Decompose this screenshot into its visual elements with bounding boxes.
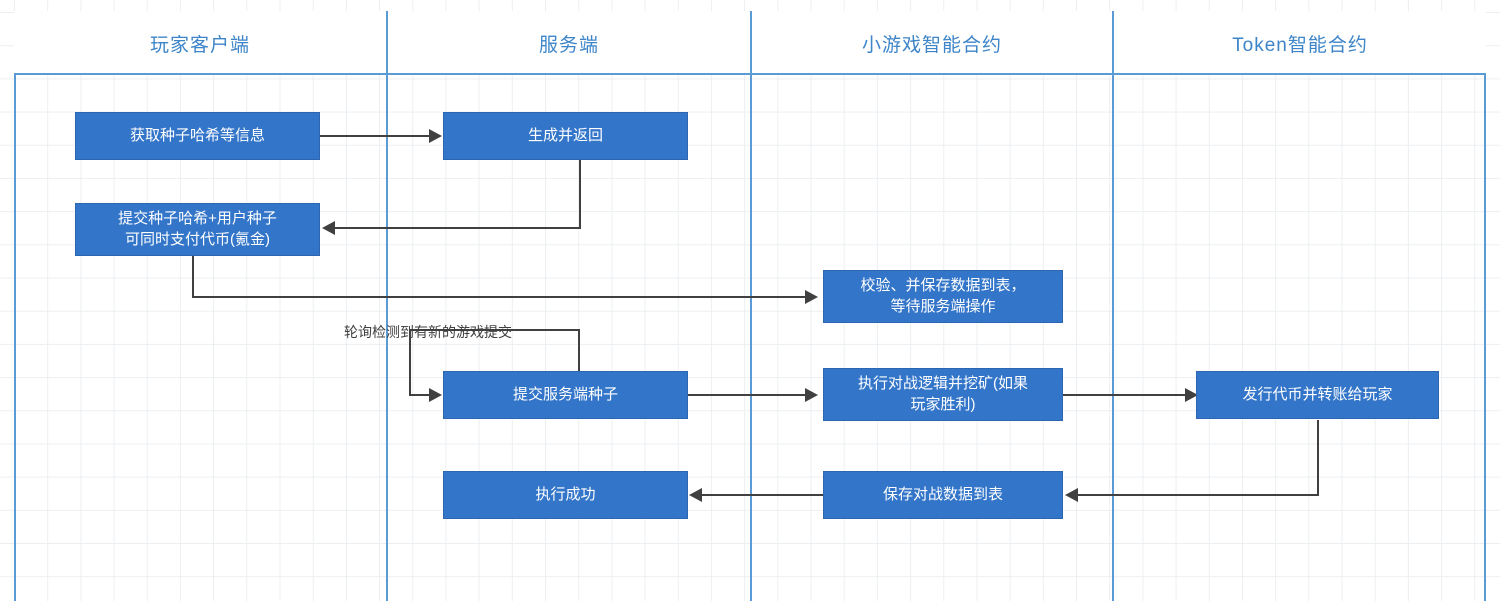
edge-n3-n4-hline	[192, 296, 809, 298]
edge-n7-n9-vline	[1317, 420, 1319, 496]
edge-n9-n8-arrow	[689, 488, 702, 502]
node-generate-and-return[interactable]: 生成并返回	[443, 112, 688, 160]
node-mint-and-transfer-token[interactable]: 发行代币并转账给玩家	[1196, 371, 1439, 419]
node-save-battle-data-line-1: 保存对战数据到表	[883, 485, 1003, 505]
node-execute-success-line-1: 执行成功	[535, 485, 595, 505]
edge-n2-n3-vline	[579, 160, 581, 229]
node-execute-battle-logic-line-2: 玩家胜利)	[911, 395, 976, 415]
node-generate-and-return-line-1: 生成并返回	[528, 126, 603, 146]
lane-divider-1	[386, 11, 388, 601]
lane-title-token-contract: Token智能合约	[1114, 11, 1486, 75]
lane-title-server: 服务端	[388, 11, 750, 75]
edge-n1-n2-arrow	[429, 129, 442, 143]
lane-divider-3	[1112, 11, 1114, 601]
edge-n3-n4-arrow	[805, 290, 818, 304]
edge-n7-n9-hline	[1076, 494, 1319, 496]
node-submit-seed-hash-line-1: 提交种子哈希+用户种子	[118, 209, 277, 229]
edge-polling-label: 轮询检测到有新的游戏提交	[344, 322, 512, 342]
lane-divider-2	[750, 11, 752, 601]
node-execute-battle-logic-line-1: 执行对战逻辑并挖矿(如果	[858, 374, 1028, 394]
edge-n6-n7-line	[1063, 394, 1189, 396]
edge-n1-n2-line	[319, 135, 433, 137]
node-mint-and-transfer-token-line-1: 发行代币并转账给玩家	[1242, 385, 1392, 405]
edge-n3-n4-vline	[192, 255, 194, 298]
node-submit-server-seed-line-1: 提交服务端种子	[513, 385, 618, 405]
edge-n5-n6-line	[687, 394, 809, 396]
lane-title-client: 玩家客户端	[14, 11, 386, 75]
edge-n5-n6-arrow	[805, 388, 818, 402]
node-submit-seed-hash-line-2: 可同时支付代币(氪金)	[125, 230, 270, 250]
node-execute-success[interactable]: 执行成功	[443, 471, 688, 519]
edge-n7-n9-arrow	[1065, 488, 1078, 502]
edge-n9-n8-line	[700, 494, 823, 496]
edge-polling-vline-right	[578, 330, 580, 371]
node-submit-seed-hash[interactable]: 提交种子哈希+用户种子 可同时支付代币(氪金)	[75, 203, 320, 256]
edge-polling-arrow	[429, 388, 442, 402]
node-validate-and-save[interactable]: 校验、并保存数据到表， 等待服务端操作	[823, 270, 1063, 323]
node-get-seed-hash[interactable]: 获取种子哈希等信息	[75, 112, 320, 160]
flowchart-canvas: 玩家客户端 服务端 小游戏智能合约 Token智能合约 轮询检测到有新的游戏提交…	[0, 0, 1500, 601]
node-validate-and-save-line-1: 校验、并保存数据到表，	[860, 276, 1025, 296]
node-save-battle-data[interactable]: 保存对战数据到表	[823, 471, 1063, 519]
node-validate-and-save-line-2: 等待服务端操作	[890, 297, 995, 317]
edge-n2-n3-arrow	[322, 221, 335, 235]
lane-title-game-contract: 小游戏智能合约	[752, 11, 1112, 75]
node-execute-battle-logic[interactable]: 执行对战逻辑并挖矿(如果 玩家胜利)	[823, 368, 1063, 421]
node-submit-server-seed[interactable]: 提交服务端种子	[443, 371, 688, 419]
node-get-seed-hash-line-1: 获取种子哈希等信息	[130, 126, 265, 146]
edge-n2-n3-hline	[333, 227, 581, 229]
